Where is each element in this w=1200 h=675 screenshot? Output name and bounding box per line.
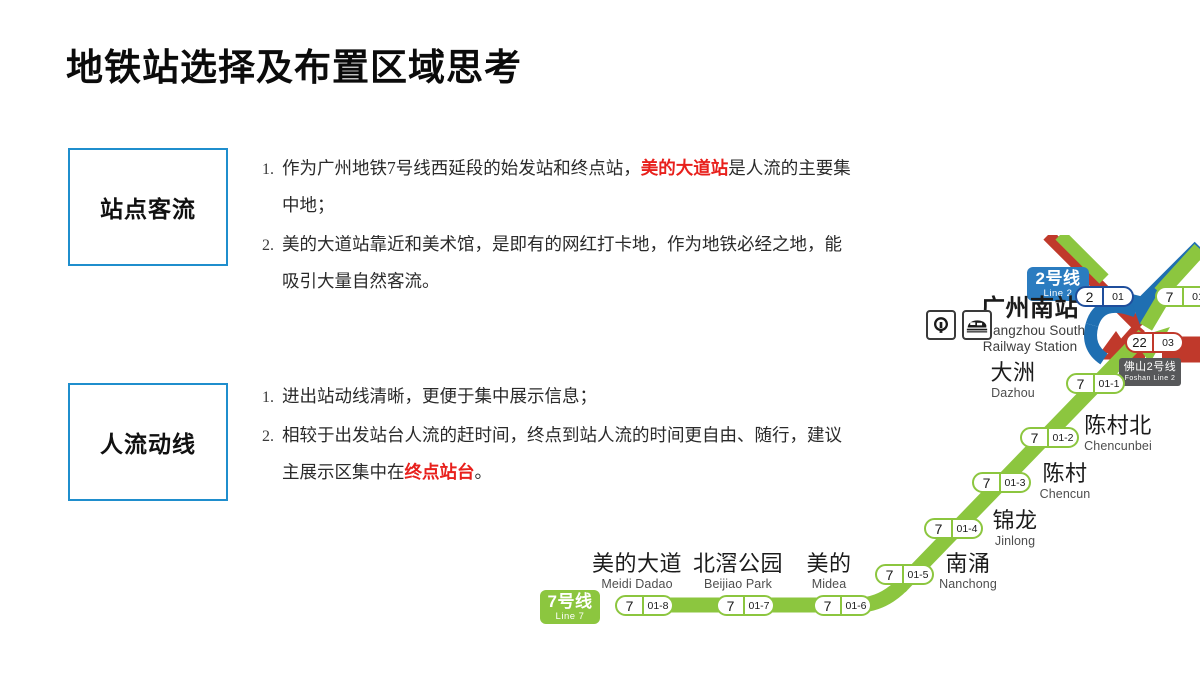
- badge-station-code: 01-5: [904, 566, 932, 583]
- station-badge-jinlong[interactable]: 7 01-4: [924, 518, 983, 539]
- badge-line-number: 7: [1068, 375, 1093, 392]
- badge-line-number: 2: [1077, 288, 1102, 305]
- station-badge-chencunbei[interactable]: 7 01-2: [1020, 427, 1079, 448]
- station-badge-dazhou[interactable]: 7 01-1: [1066, 373, 1125, 394]
- rail-service-icons: [926, 310, 992, 340]
- station-label-dazhou[interactable]: 大洲 Dazhou: [968, 362, 1058, 400]
- line-badge-foshan-line-2[interactable]: 佛山2号线 Foshan Line 2: [1119, 358, 1181, 386]
- badge-line-number: 7: [718, 597, 743, 614]
- china-railway-icon: [926, 310, 956, 340]
- section-label-text: 站点客流: [100, 190, 196, 224]
- badge-station-code: 01-2: [1049, 429, 1077, 446]
- station-badge-nanchong[interactable]: 7 01-5: [875, 564, 934, 585]
- station-label-midea[interactable]: 美的 Midea: [793, 553, 865, 591]
- bullet-text-post: 。: [475, 462, 493, 482]
- high-speed-train-icon: [962, 310, 992, 340]
- badge-line-number: 7: [617, 597, 642, 614]
- station-name-cn: 大洲: [968, 362, 1058, 385]
- page-title: 地铁站选择及布置区域思考: [66, 37, 522, 91]
- station-badge-meidi-dadao[interactable]: 7 01-8: [615, 595, 674, 616]
- station-name-en: Beijiao Park: [679, 578, 797, 591]
- station-name-en-line2: Railway Station: [940, 340, 1120, 354]
- line-badge-cn: 佛山2号线: [1124, 362, 1177, 373]
- badge-station-code: 01-4: [953, 520, 981, 537]
- line-badge-cn: 2号线: [1036, 270, 1081, 287]
- section-label-box-station-traffic: 站点客流: [68, 148, 228, 266]
- line-badge-en: Line 7: [556, 612, 585, 622]
- station-badge-beijiao-park[interactable]: 7 01-7: [716, 595, 775, 616]
- badge-station-code: 01-3: [1001, 474, 1029, 491]
- section-label-box-pedestrian-flow: 人流动线: [68, 383, 228, 501]
- metro-map-diagram: 7号线 Line 7 2号线 Line 2 佛山2号线 Foshan Line …: [500, 235, 1200, 640]
- station-label-beijiao-park[interactable]: 北滘公园 Beijiao Park: [679, 553, 797, 591]
- line-badge-line-7[interactable]: 7号线 Line 7: [540, 590, 600, 624]
- station-name-cn: 北滘公园: [679, 553, 797, 576]
- badge-line-number: 7: [877, 566, 902, 583]
- line-badge-en: Foshan Line 2: [1125, 375, 1176, 382]
- station-name-en: Meidi Dadao: [578, 578, 696, 591]
- section-label-text: 人流动线: [100, 425, 196, 459]
- station-name-cn: 美的: [793, 553, 865, 576]
- badge-line-number: 22: [1127, 334, 1152, 351]
- station-name-cn: 美的大道: [578, 553, 696, 576]
- station-name-cn: 陈村: [1018, 463, 1112, 486]
- badge-station-code: 01-1: [1095, 375, 1123, 392]
- badge-station-code: 01-8: [644, 597, 672, 614]
- station-name-en: Jinlong: [969, 535, 1061, 548]
- badge-station-code: 01-6: [842, 597, 870, 614]
- line-badge-cn: 7号线: [548, 593, 593, 610]
- badge-station-number: 03: [1154, 334, 1182, 351]
- bullet-text-highlight: 美的大道站: [641, 158, 729, 178]
- slide-canvas: 地铁站选择及布置区域思考 站点客流 作为广州地铁7号线西延段的始发站和终点站，美…: [0, 0, 1200, 675]
- badge-station-number: 01: [1104, 288, 1132, 305]
- station-label-meidi-dadao[interactable]: 美的大道 Meidi Dadao: [578, 553, 696, 591]
- station-name-en: Midea: [793, 578, 865, 591]
- badge-line-number: 7: [926, 520, 951, 537]
- badge-line-number: 7: [1022, 429, 1047, 446]
- badge-station-number: 01: [1184, 288, 1200, 305]
- badge-station-code: 01-7: [745, 597, 773, 614]
- list-item: 作为广州地铁7号线西延段的始发站和终点站，美的大道站是人流的主要集中地；: [278, 150, 852, 224]
- station-badge-line22-03[interactable]: 22 03: [1125, 332, 1184, 353]
- station-name-en: Nanchong: [918, 578, 1018, 591]
- station-badge-chencun[interactable]: 7 01-3: [972, 472, 1031, 493]
- station-label-chencun[interactable]: 陈村 Chencun: [1018, 463, 1112, 501]
- station-name-en: Chencun: [1018, 488, 1112, 501]
- badge-line-number: 7: [974, 474, 999, 491]
- bullet-text-highlight: 终点站台: [405, 462, 475, 482]
- badge-line-number: 7: [1157, 288, 1182, 305]
- badge-line-number: 7: [815, 597, 840, 614]
- bullet-text-pre: 作为广州地铁7号线西延段的始发站和终点站，: [282, 158, 641, 178]
- station-name-en: Dazhou: [968, 387, 1058, 400]
- station-badge-midea[interactable]: 7 01-6: [813, 595, 872, 616]
- station-badge-line2-01[interactable]: 2 01: [1075, 286, 1134, 307]
- station-badge-line7-01[interactable]: 7 01: [1155, 286, 1200, 307]
